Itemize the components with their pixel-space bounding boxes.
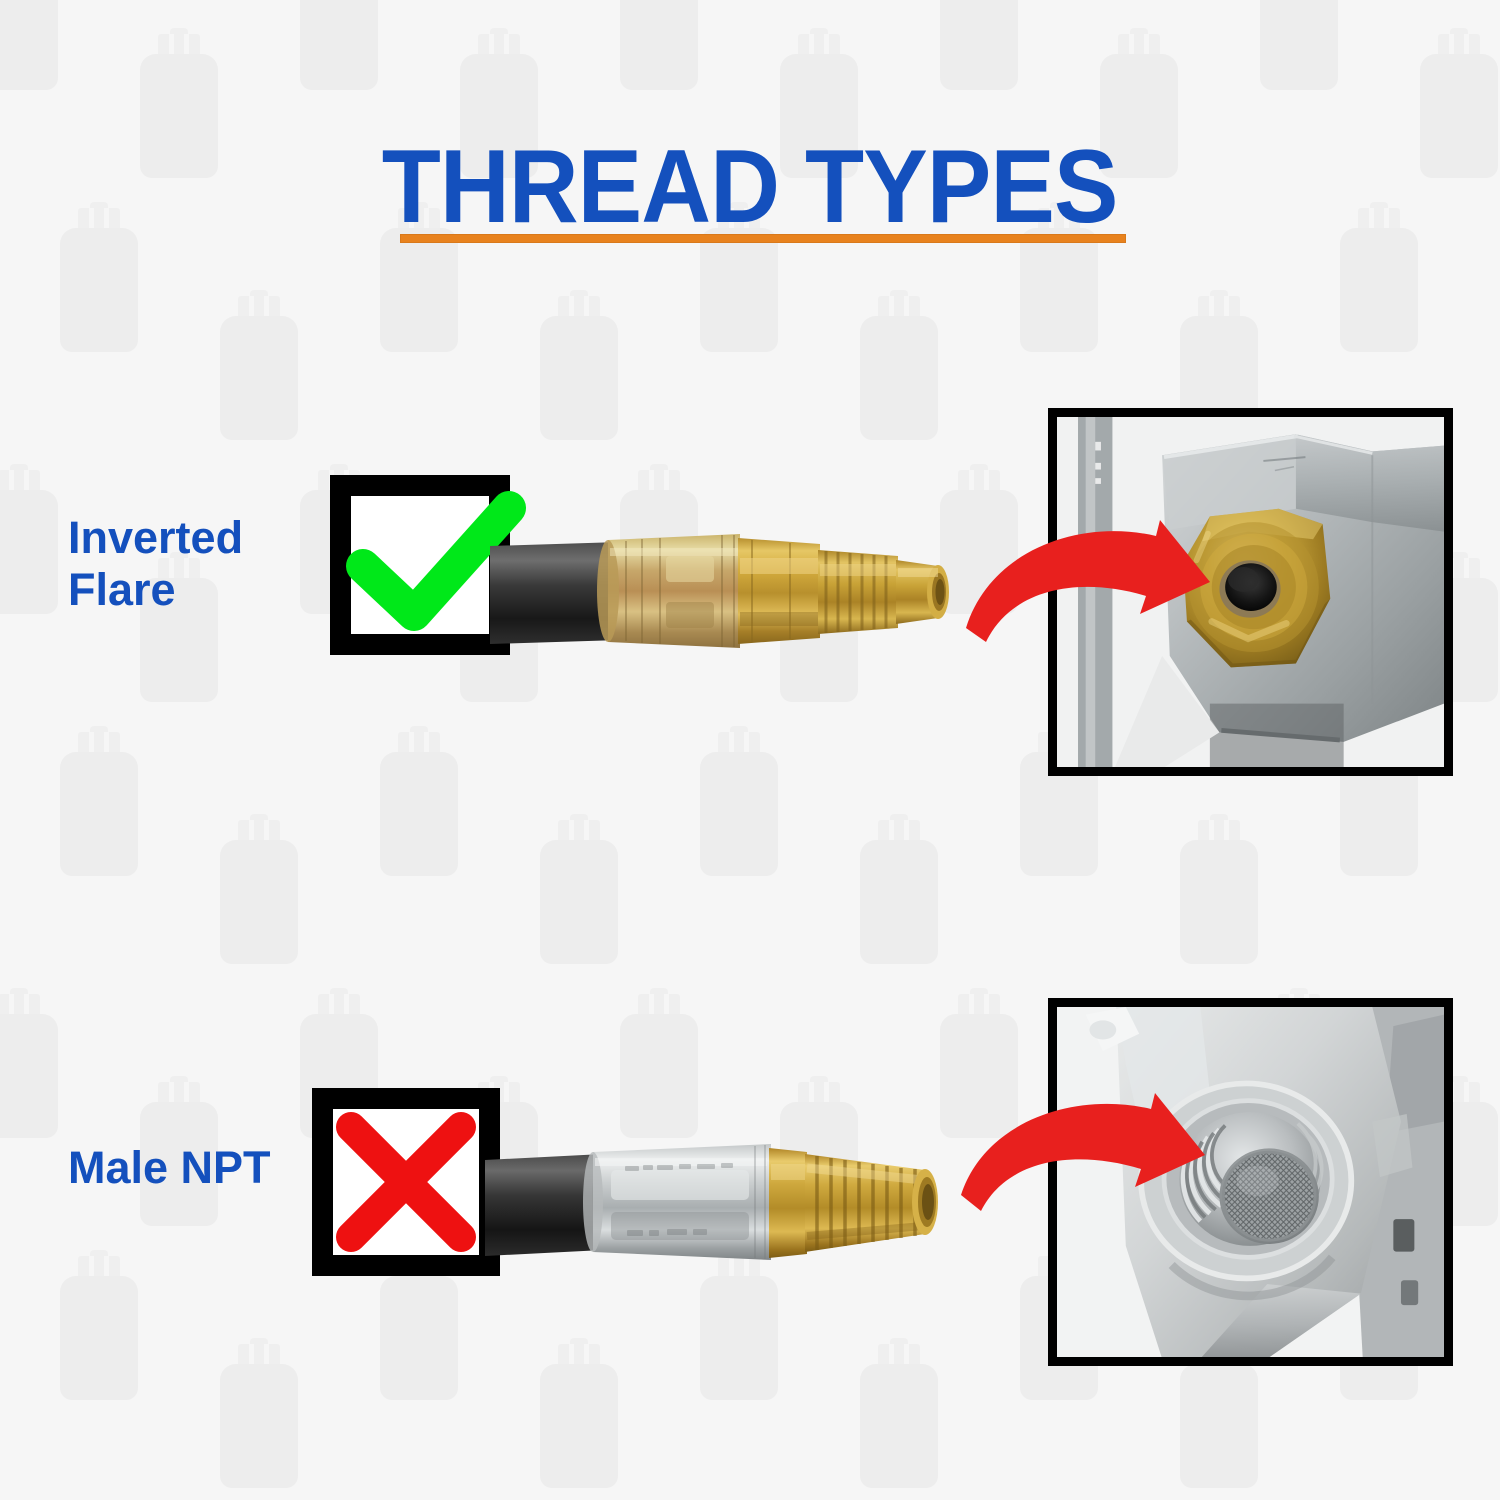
inverted-flare-hose-assembly xyxy=(490,498,960,688)
propane-tank-icon xyxy=(1180,814,1258,964)
cross-icon xyxy=(335,1111,477,1253)
male-npt-hose-assembly xyxy=(485,1108,955,1298)
row-label-male-npt: Male NPT xyxy=(68,1142,271,1194)
propane-tank-icon xyxy=(220,814,298,964)
inverted-flare-port-photo-image xyxy=(1057,417,1444,769)
page-title-text: THREAD TYPES xyxy=(382,140,1118,236)
npt-female-port-photo-image xyxy=(1057,1007,1444,1359)
title-underline xyxy=(400,234,1126,243)
propane-tank-icon xyxy=(540,814,618,964)
propane-tank-icon xyxy=(940,0,1018,90)
propane-tank-icon xyxy=(0,0,58,90)
inverted-flare-port-photo xyxy=(1048,408,1453,776)
infographic-page: THREAD TYPES Inverted Flare xyxy=(0,0,1500,1500)
propane-tank-icon xyxy=(860,814,938,964)
verdict-check-box-inner xyxy=(351,496,489,634)
verdict-cross-box xyxy=(312,1088,500,1276)
verdict-check-box xyxy=(330,475,510,655)
propane-tank-icon xyxy=(300,0,378,90)
page-title: THREAD TYPES xyxy=(0,140,1500,236)
row-label-inverted-flare: Inverted Flare xyxy=(68,512,243,616)
propane-tank-icon xyxy=(1260,0,1338,90)
npt-female-port-photo xyxy=(1048,998,1453,1366)
propane-tank-icon xyxy=(620,0,698,90)
verdict-cross-box-inner xyxy=(333,1109,479,1255)
